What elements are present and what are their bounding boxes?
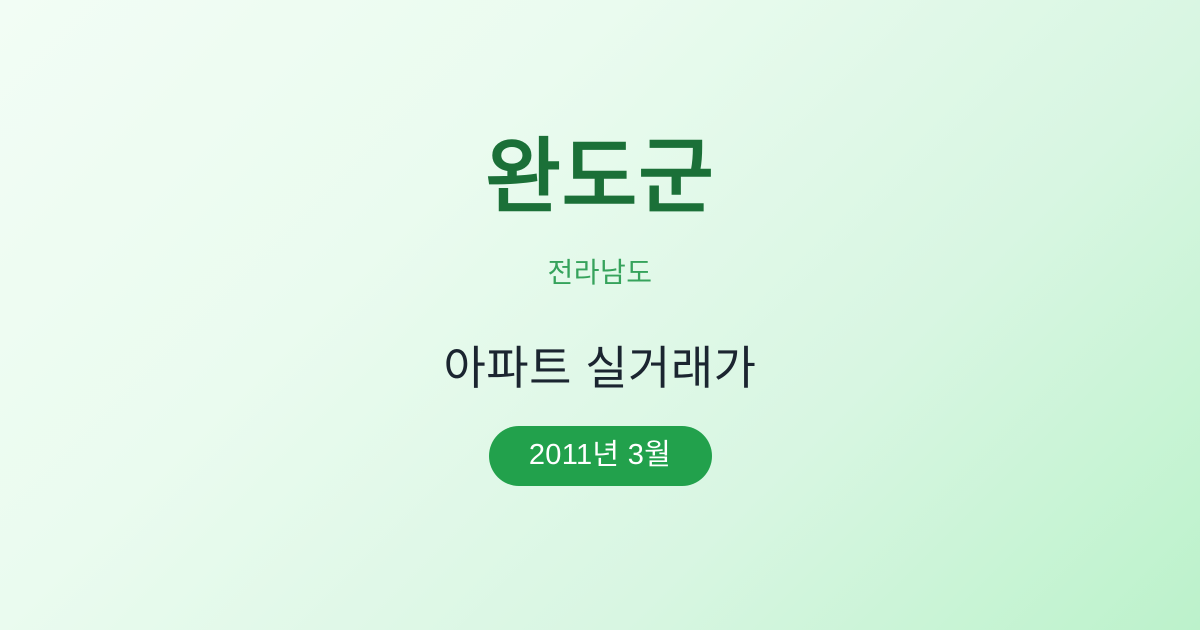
card-content-stack: 완도군 전라남도 아파트 실거래가 2011년 3월 (0, 137, 1200, 486)
province-label: 전라남도 (547, 259, 652, 287)
dataset-heading: 아파트 실거래가 (443, 345, 756, 391)
page-title: 완도군 (485, 137, 714, 219)
period-badge: 2011년 3월 (489, 426, 712, 486)
og-card: 완도군 전라남도 아파트 실거래가 2011년 3월 (0, 0, 1200, 630)
